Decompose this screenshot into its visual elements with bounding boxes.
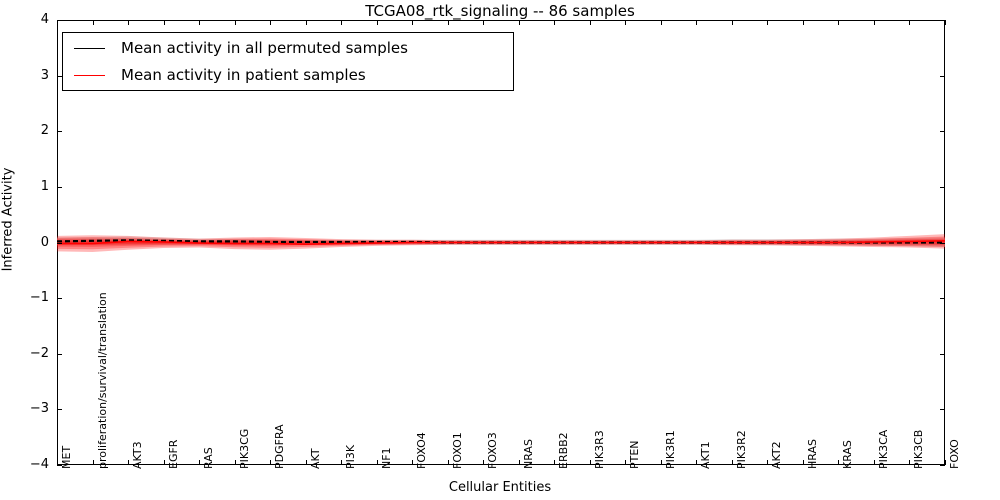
chart-legend[interactable]: Mean activity in all permuted samples Me… bbox=[62, 32, 514, 91]
x-tick-label: PDGFRA bbox=[274, 424, 285, 469]
y-tick-label: −3 bbox=[0, 404, 49, 414]
x-tick-label: FOXO bbox=[949, 439, 960, 469]
y-tick-mark bbox=[940, 354, 945, 355]
chart-figure: TCGA08_rtk_signaling -- 86 samples −4−3−… bbox=[0, 0, 1000, 500]
legend-entry-patient: Mean activity in patient samples bbox=[63, 63, 515, 89]
x-tick-mark bbox=[377, 460, 378, 465]
legend-swatch-patient bbox=[74, 75, 105, 76]
x-tick-label: FOXO4 bbox=[416, 432, 427, 469]
x-tick-mark bbox=[93, 20, 94, 25]
x-tick-mark bbox=[341, 20, 342, 25]
x-tick-mark bbox=[838, 460, 839, 465]
x-tick-mark bbox=[767, 20, 768, 25]
x-tick-mark bbox=[625, 460, 626, 465]
y-tick-mark bbox=[57, 131, 62, 132]
x-tick-mark bbox=[838, 20, 839, 25]
x-tick-label: PIK3R3 bbox=[594, 430, 605, 469]
x-tick-label: AKT1 bbox=[700, 441, 711, 469]
x-tick-mark bbox=[235, 20, 236, 25]
x-tick-mark bbox=[590, 20, 591, 25]
x-tick-label: RAS bbox=[203, 447, 214, 469]
y-tick-mark bbox=[940, 243, 945, 244]
y-tick-mark bbox=[940, 409, 945, 410]
y-tick-label: −4 bbox=[0, 460, 49, 470]
x-tick-mark bbox=[412, 20, 413, 25]
x-tick-mark bbox=[412, 460, 413, 465]
x-tick-mark bbox=[803, 20, 804, 25]
x-tick-mark bbox=[803, 460, 804, 465]
x-tick-mark bbox=[696, 460, 697, 465]
x-tick-mark bbox=[909, 20, 910, 25]
x-tick-mark bbox=[199, 460, 200, 465]
x-tick-label: PIK3CG bbox=[239, 429, 250, 469]
x-tick-label: KRAS bbox=[842, 440, 853, 469]
x-tick-mark bbox=[270, 20, 271, 25]
x-tick-mark bbox=[377, 20, 378, 25]
x-tick-mark bbox=[661, 20, 662, 25]
x-tick-mark bbox=[661, 460, 662, 465]
x-tick-label: EGFR bbox=[168, 440, 179, 469]
x-tick-mark bbox=[945, 460, 946, 465]
y-tick-mark bbox=[940, 465, 945, 466]
x-tick-label: AKT3 bbox=[132, 441, 143, 469]
x-tick-mark bbox=[57, 20, 58, 25]
x-tick-label: NF1 bbox=[381, 447, 392, 469]
x-tick-label: FOXO1 bbox=[452, 432, 463, 469]
x-tick-mark bbox=[696, 20, 697, 25]
x-tick-mark bbox=[448, 20, 449, 25]
y-tick-label: 4 bbox=[0, 15, 49, 25]
y-tick-mark bbox=[940, 298, 945, 299]
x-tick-mark bbox=[732, 20, 733, 25]
x-tick-mark bbox=[874, 460, 875, 465]
x-tick-mark bbox=[519, 460, 520, 465]
x-tick-label: AKT bbox=[310, 448, 321, 469]
x-tick-label: FOXO3 bbox=[487, 432, 498, 469]
y-tick-mark bbox=[940, 76, 945, 77]
x-tick-mark bbox=[945, 20, 946, 25]
legend-label-permuted: Mean activity in all permuted samples bbox=[121, 39, 408, 57]
x-tick-mark bbox=[306, 460, 307, 465]
y-axis-label: Inferred Activity bbox=[1, 60, 16, 380]
x-tick-mark bbox=[93, 460, 94, 465]
x-tick-mark bbox=[128, 460, 129, 465]
x-tick-label: proliferation/survival/translation bbox=[97, 292, 108, 469]
x-tick-label: NRAS bbox=[523, 439, 534, 469]
x-tick-mark bbox=[732, 460, 733, 465]
x-tick-mark bbox=[235, 460, 236, 465]
x-tick-mark bbox=[306, 20, 307, 25]
x-tick-mark bbox=[590, 460, 591, 465]
x-tick-label: PIK3CA bbox=[878, 430, 889, 469]
legend-entry-permuted: Mean activity in all permuted samples bbox=[63, 36, 515, 62]
y-tick-mark bbox=[57, 409, 62, 410]
x-tick-mark bbox=[448, 460, 449, 465]
y-tick-mark bbox=[940, 131, 945, 132]
x-tick-mark bbox=[164, 20, 165, 25]
x-tick-mark bbox=[270, 460, 271, 465]
x-tick-mark bbox=[554, 20, 555, 25]
legend-swatch-permuted bbox=[74, 48, 105, 49]
x-tick-label: PI3K bbox=[345, 445, 356, 469]
x-tick-mark bbox=[199, 20, 200, 25]
x-tick-label: PTEN bbox=[629, 440, 640, 469]
x-tick-mark bbox=[164, 460, 165, 465]
x-tick-label: MET bbox=[61, 446, 72, 469]
x-tick-mark bbox=[483, 460, 484, 465]
x-tick-label: PIK3CB bbox=[913, 430, 924, 469]
x-tick-label: PIK3R1 bbox=[665, 430, 676, 469]
chart-title: TCGA08_rtk_signaling -- 86 samples bbox=[0, 2, 1000, 20]
y-tick-mark bbox=[57, 298, 62, 299]
x-tick-mark bbox=[874, 20, 875, 25]
x-tick-label: HRAS bbox=[807, 439, 818, 469]
y-tick-mark bbox=[57, 243, 62, 244]
x-tick-mark bbox=[767, 460, 768, 465]
y-tick-mark bbox=[57, 187, 62, 188]
legend-label-patient: Mean activity in patient samples bbox=[121, 66, 366, 84]
x-tick-mark bbox=[625, 20, 626, 25]
x-tick-mark bbox=[554, 460, 555, 465]
x-tick-mark bbox=[519, 20, 520, 25]
x-tick-mark bbox=[341, 460, 342, 465]
x-tick-mark bbox=[483, 20, 484, 25]
y-tick-mark bbox=[57, 354, 62, 355]
x-tick-label: ERBB2 bbox=[558, 432, 569, 469]
x-tick-label: PIK3R2 bbox=[736, 430, 747, 469]
x-axis-label: Cellular Entities bbox=[0, 480, 1000, 495]
x-tick-mark bbox=[57, 460, 58, 465]
x-tick-mark bbox=[909, 460, 910, 465]
x-tick-mark bbox=[128, 20, 129, 25]
y-tick-mark bbox=[940, 187, 945, 188]
x-tick-label: AKT2 bbox=[771, 441, 782, 469]
